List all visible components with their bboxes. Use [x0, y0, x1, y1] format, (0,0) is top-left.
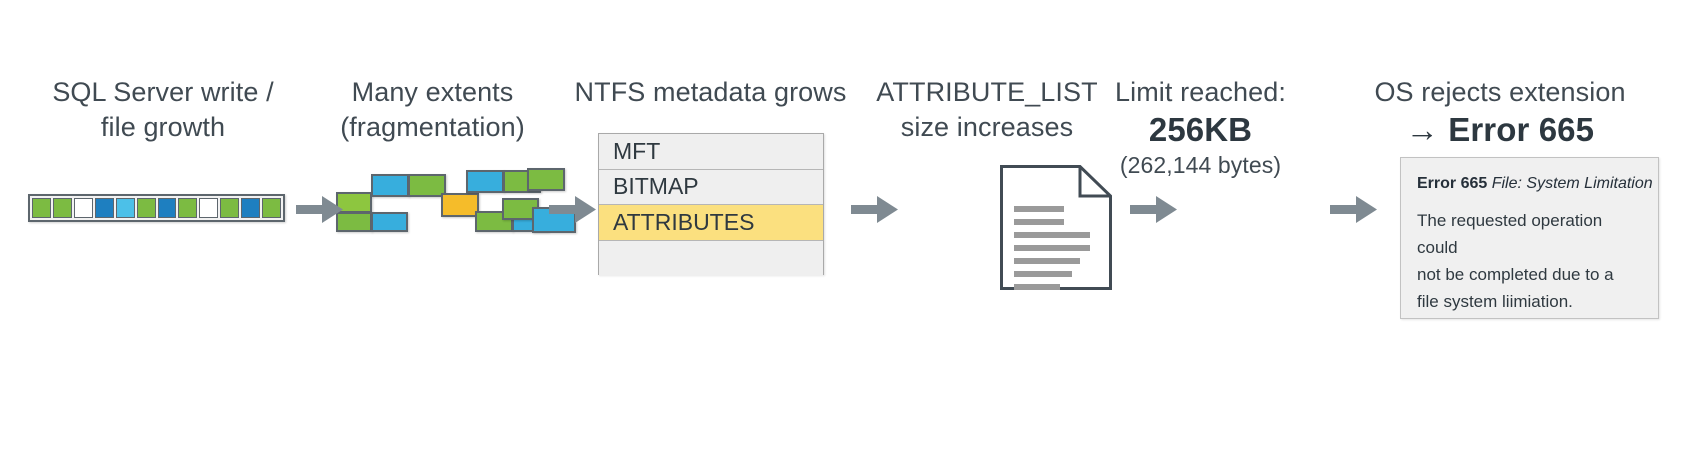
extent-block: [527, 168, 565, 191]
file-bar-segment: [95, 198, 114, 218]
segmented-file-bar: [28, 194, 285, 222]
heading-line-1: OS rejects extension: [1374, 77, 1625, 107]
fragmented-extents-group: [336, 168, 546, 238]
stage-heading-many-extents: Many extents (fragmentation): [325, 75, 540, 145]
heading-line-2: size increases: [862, 110, 1112, 145]
error-dialog-code: Error 665: [1417, 175, 1487, 192]
ntfs-table-row-empty: [599, 241, 823, 277]
error-dialog-body: The requested operation couldnot be comp…: [1417, 207, 1642, 315]
file-bar-segment: [74, 198, 93, 218]
file-bar-segment: [116, 198, 135, 218]
document-text-line: [1014, 271, 1072, 277]
error-code-label: → Error 665: [1335, 110, 1665, 150]
document-text-line: [1014, 206, 1064, 212]
heading-line-1: ATTRIBUTE_LIST: [876, 77, 1097, 107]
flow-arrow-icon: [1130, 196, 1178, 224]
document-text-line: [1014, 245, 1090, 251]
document-text-line: [1014, 284, 1060, 290]
flow-arrow-icon: [1330, 196, 1378, 224]
error-dialog-body-line: The requested operation could: [1417, 207, 1642, 261]
error-dialog-body-line: not be completed due to a: [1417, 261, 1642, 288]
heading-line-1: NTFS metadata grows: [575, 77, 847, 107]
document-text-line: [1014, 258, 1080, 264]
file-bar-segment: [178, 198, 197, 218]
document-icon: [1000, 165, 1112, 290]
heading-line-2: file growth: [28, 110, 298, 145]
file-bar-segment: [220, 198, 239, 218]
document-text-line: [1014, 219, 1064, 225]
ntfs-table-row-attributes: ATTRIBUTES: [599, 205, 823, 241]
extent-block: [441, 193, 479, 217]
stage-heading-os-rejects: OS rejects extension → Error 665: [1335, 75, 1665, 150]
ntfs-table-row-bitmap: BITMAP: [599, 170, 823, 206]
file-bar-segment: [241, 198, 260, 218]
ntfs-table-row-mft: MFT: [599, 134, 823, 170]
file-bar-segment: [53, 198, 72, 218]
extent-block: [371, 174, 409, 197]
stage-heading-sql-write: SQL Server write / file growth: [28, 75, 298, 145]
stage-heading-attribute-list: ATTRIBUTE_LIST size increases: [862, 75, 1112, 145]
document-text-line: [1014, 232, 1090, 238]
flow-arrow-icon: [296, 196, 344, 224]
file-bar-segment: [262, 198, 281, 218]
file-bar-segment: [32, 198, 51, 218]
heading-line-2: (fragmentation): [325, 110, 540, 145]
heading-line-1: SQL Server write /: [52, 77, 273, 107]
diagram-canvas: SQL Server write / file growth Many exte…: [0, 0, 1688, 470]
file-bar-segment: [199, 198, 218, 218]
heading-line-1: Many extents: [352, 77, 514, 107]
extent-block: [371, 212, 408, 232]
limit-bytes: (262,144 bytes): [1078, 150, 1323, 180]
extent-block: [466, 170, 504, 193]
file-bar-segment: [137, 198, 156, 218]
stage-heading-ntfs-metadata: NTFS metadata grows: [573, 75, 848, 110]
error-dialog-subtitle: File: System Limitation: [1492, 175, 1653, 192]
heading-line-1: Limit reached:: [1115, 77, 1286, 107]
error-dialog-body-line: file system liimiation.: [1417, 288, 1642, 315]
ntfs-metadata-table: MFTBITMAPATTRIBUTES: [598, 133, 824, 275]
error-dialog: Error 665 File: System Limitation The re…: [1400, 157, 1659, 319]
error-dialog-title: Error 665 File: System Limitation: [1417, 175, 1642, 193]
flow-arrow-icon: [549, 196, 597, 224]
file-bar-segment: [158, 198, 177, 218]
flow-arrow-icon: [851, 196, 899, 224]
stage-heading-limit-reached: Limit reached: 256KB (262,144 bytes): [1078, 75, 1323, 180]
limit-value: 256KB: [1078, 110, 1323, 150]
